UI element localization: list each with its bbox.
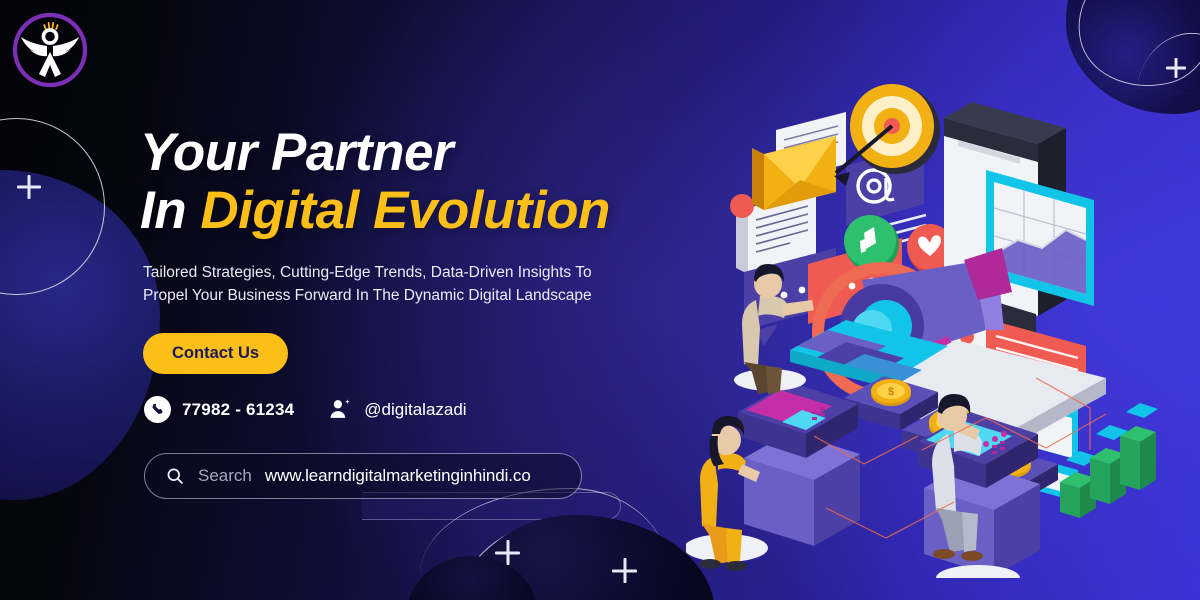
page-title: Your Partner In Digital Evolution — [140, 126, 700, 238]
decorative-plus-icon — [612, 558, 637, 583]
search-input[interactable]: Search www.learndigitalmarketinginhindi.… — [144, 453, 582, 499]
decorative-plus-icon — [17, 175, 41, 199]
user-add-glyph — [328, 397, 353, 422]
kiosk-terminal-left — [738, 382, 860, 546]
social-handle-contact[interactable]: @digitalazadi — [328, 397, 466, 422]
hero-illustration: $ $ $ — [686, 78, 1192, 578]
decorative-blob-bottom — [455, 515, 715, 600]
decorative-swoosh-bottom — [420, 488, 670, 575]
decorative-blob-bottom-2 — [406, 556, 536, 600]
contact-row: 77982 - 61234 @digitalazadi — [144, 396, 700, 423]
decorative-plus-icon — [1166, 58, 1186, 78]
headline-line-1: Your Partner — [140, 123, 453, 182]
subtitle-line-1: Tailored Strategies, Cutting-Edge Trends… — [143, 264, 592, 281]
social-handle: @digitalazadi — [364, 400, 466, 420]
svg-text:$: $ — [888, 386, 894, 398]
search-icon — [165, 466, 185, 486]
isometric-digital-marketing-scene: $ $ $ — [686, 78, 1192, 578]
user-add-icon — [328, 397, 353, 422]
search-placeholder: Search — [198, 466, 252, 486]
subtitle-line-2: Propel Your Business Forward In The Dyna… — [143, 287, 592, 304]
notification-dot-red — [730, 194, 754, 218]
phone-glyph — [150, 402, 166, 418]
decorative-ring-bottom — [452, 522, 660, 600]
search-value: www.learndigitalmarketinginhindi.co — [265, 466, 531, 486]
decorative-ring-left — [0, 118, 105, 295]
brand-logo[interactable] — [8, 8, 92, 92]
hero-banner: Your Partner In Digital Evolution Tailor… — [0, 0, 1200, 600]
headline-line-2: In Digital Evolution — [140, 184, 700, 239]
winged-figure-logo-icon — [8, 8, 92, 92]
headline-accent-text: Digital Evolution — [200, 181, 610, 240]
contact-us-button[interactable]: Contact Us — [143, 333, 288, 374]
phone-number: 77982 - 61234 — [182, 400, 294, 420]
decorative-blob-left — [0, 170, 160, 500]
hero-content: Your Partner In Digital Evolution Tailor… — [140, 126, 700, 499]
decorative-plus-icon — [495, 540, 520, 565]
phone-contact[interactable]: 77982 - 61234 — [144, 396, 294, 423]
envelope-icon — [752, 112, 846, 210]
headline-line-2-plain: In — [140, 181, 200, 240]
hero-subtitle: Tailored Strategies, Cutting-Edge Trends… — [143, 262, 663, 307]
phone-icon — [144, 396, 171, 423]
